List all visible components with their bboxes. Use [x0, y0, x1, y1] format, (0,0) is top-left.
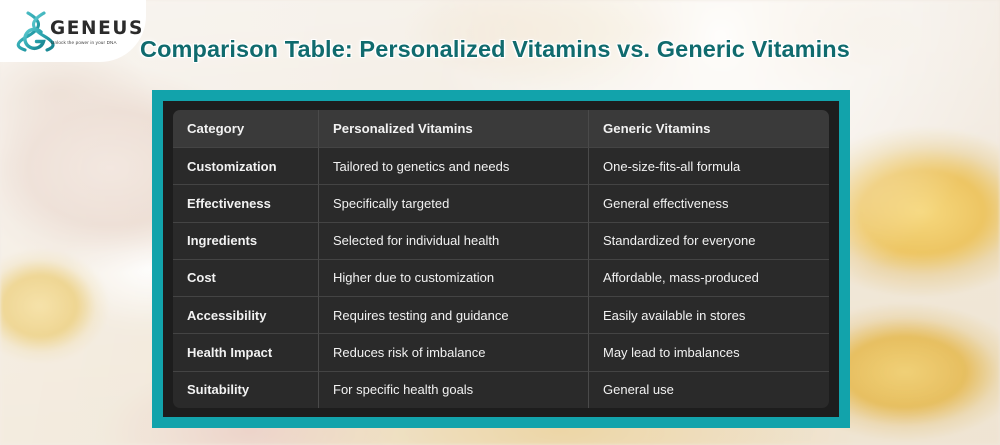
cell-category: Accessibility [173, 296, 318, 333]
cell-personalized: Specifically targeted [318, 184, 588, 221]
table-row: Ingredients Selected for individual heal… [173, 222, 829, 259]
cell-generic: General use [588, 371, 829, 408]
table-row: Health Impact Reduces risk of imbalance … [173, 333, 829, 370]
table-header: Category Personalized Vitamins Generic V… [173, 110, 829, 147]
cell-category: Ingredients [173, 222, 318, 259]
comparison-table-backdrop: Category Personalized Vitamins Generic V… [163, 101, 839, 417]
cell-generic: Standardized for everyone [588, 222, 829, 259]
cell-personalized: Tailored to genetics and needs [318, 147, 588, 184]
screenshot-root: GENEUS Unlock the power in your DNA Comp… [0, 0, 1000, 445]
cell-category: Effectiveness [173, 184, 318, 221]
cell-category: Customization [173, 147, 318, 184]
cell-generic: One-size-fits-all formula [588, 147, 829, 184]
cell-generic: May lead to imbalances [588, 333, 829, 370]
table-row: Effectiveness Specifically targeted Gene… [173, 184, 829, 221]
cell-category: Suitability [173, 371, 318, 408]
brand-tagline: Unlock the power in your DNA [51, 41, 144, 46]
column-header-generic: Generic Vitamins [588, 110, 829, 147]
cell-personalized: Higher due to customization [318, 259, 588, 296]
cell-generic: General effectiveness [588, 184, 829, 221]
comparison-table: Category Personalized Vitamins Generic V… [173, 110, 829, 408]
table-row: Accessibility Requires testing and guida… [173, 296, 829, 333]
cell-personalized: Selected for individual health [318, 222, 588, 259]
table-header-row: Category Personalized Vitamins Generic V… [173, 110, 829, 147]
brand-logo[interactable]: GENEUS Unlock the power in your DNA [16, 10, 144, 52]
cell-category: Cost [173, 259, 318, 296]
table-row: Suitability For specific health goals Ge… [173, 371, 829, 408]
cell-category: Health Impact [173, 333, 318, 370]
page-title: Comparison Table: Personalized Vitamins … [140, 36, 850, 63]
table-row: Customization Tailored to genetics and n… [173, 147, 829, 184]
table-body: Customization Tailored to genetics and n… [173, 147, 829, 408]
cell-personalized: Requires testing and guidance [318, 296, 588, 333]
table-row: Cost Higher due to customization Afforda… [173, 259, 829, 296]
cell-generic: Affordable, mass-produced [588, 259, 829, 296]
cell-personalized: Reduces risk of imbalance [318, 333, 588, 370]
cell-personalized: For specific health goals [318, 371, 588, 408]
brand-name: GENEUS [50, 20, 144, 39]
comparison-table-frame: Category Personalized Vitamins Generic V… [152, 90, 850, 428]
column-header-personalized: Personalized Vitamins [318, 110, 588, 147]
column-header-category: Category [173, 110, 318, 147]
cell-generic: Easily available in stores [588, 296, 829, 333]
